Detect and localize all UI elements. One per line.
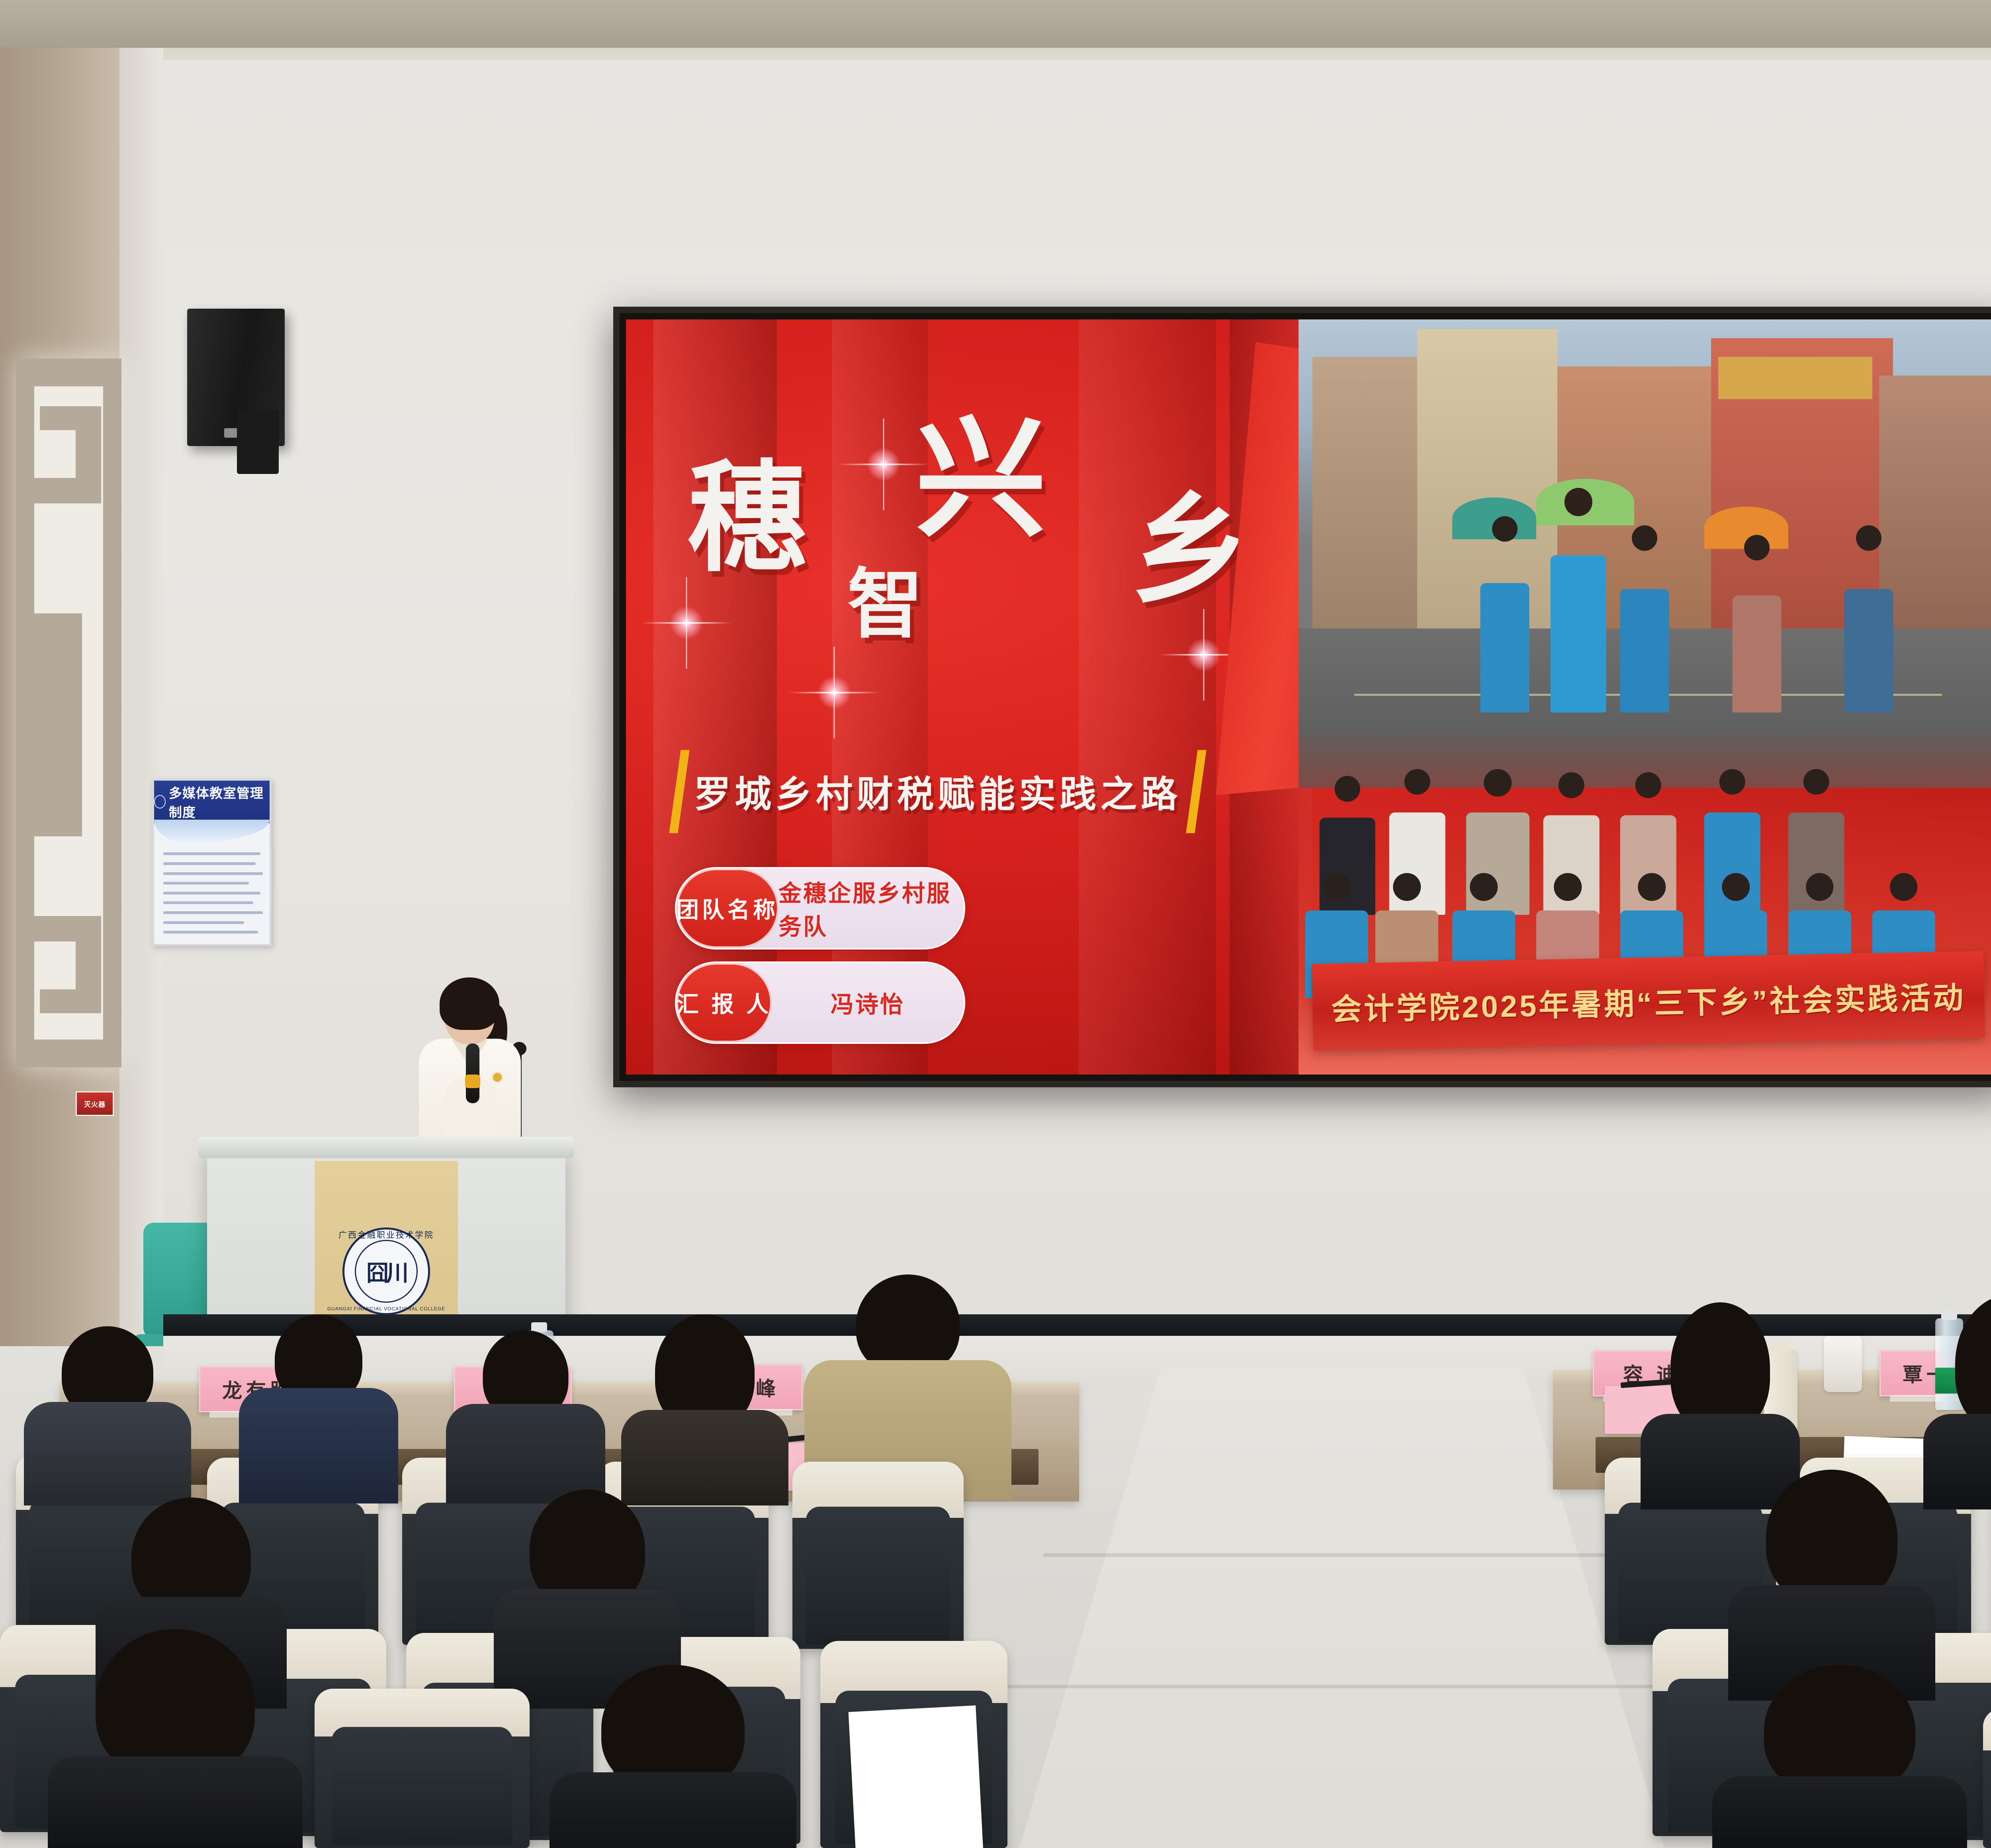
podium-top-surface: [198, 1137, 574, 1158]
subtitle-tick-left-icon: [669, 750, 689, 833]
emblem-chinese-name: 广西金融职业技术学院: [338, 1229, 434, 1241]
audience-member: [621, 1314, 788, 1501]
emblem-english-name: GUANGXI FINANCIAL VOCATIONAL COLLEGE: [327, 1306, 445, 1312]
aisle-step-2: [1003, 1685, 1680, 1688]
audience-member: [239, 1314, 398, 1501]
slide-field-team-value: 金穗企服乡村服务队: [778, 875, 964, 942]
auditorium-seat[interactable]: [315, 1689, 530, 1848]
fire-sign-label: 灭火器: [84, 1099, 106, 1109]
audience-member: [446, 1330, 605, 1501]
slide-field-speaker-label: 汇 报 人: [677, 963, 772, 1042]
sparkle-icon-3: [810, 669, 858, 716]
audience-member: [24, 1326, 191, 1501]
slide-field-speaker-value: 冯诗怡: [772, 986, 963, 1019]
wall-notice-board: 多媒体教室管理制度: [152, 779, 272, 946]
slide-field-team-label: 团队名称: [677, 869, 778, 948]
coffee-cup: [1824, 1336, 1862, 1392]
slide-field-team: 团队名称 金穗企服乡村服务队: [675, 867, 965, 949]
slide-title-char-2: 智: [847, 568, 923, 643]
notice-board-title: 多媒体教室管理制度: [169, 783, 270, 821]
microphone-grip: [465, 1075, 480, 1088]
lecture-hall-photo: 多媒体教室管理制度 安全出口 灭火器: [0, 0, 1991, 1848]
college-emblem: 广西金融职业技术学院 囧川 GUANGXI FINANCIAL VOCATION…: [342, 1227, 430, 1315]
aisle-step-1: [1043, 1553, 1641, 1557]
slide-title-char-4: 乡: [1130, 491, 1250, 611]
ceiling: [0, 0, 1991, 48]
subtitle-tick-right-icon: [1186, 750, 1206, 833]
fire-extinguisher-sign: 灭火器: [76, 1091, 114, 1116]
auditorium-seat[interactable]: [1983, 1709, 1991, 1848]
slide-title-char-1: 穗: [687, 460, 807, 579]
slide-surface: 穗 智 兴 乡 罗城乡村财税赋能实践之路 团队名称 金穗企服乡村服务队: [626, 319, 1991, 1075]
slide-field-speaker: 汇 报 人 冯诗怡: [675, 961, 965, 1044]
slide-title-block: 穗 智 兴 乡: [675, 403, 1291, 720]
emblem-inner-ring: 囧川: [355, 1240, 418, 1303]
auditorium-seat[interactable]: [792, 1462, 964, 1649]
audience-member: [1712, 1665, 1967, 1848]
decorative-lattice-light-left: [16, 358, 121, 1067]
slide-subtitle: 罗城乡村财税赋能实践之路: [694, 765, 1181, 818]
slide-photo-collage: 会计学院2025年暑期“三下乡”社会实践活动: [1299, 319, 1991, 1075]
slide-subtitle-block: 罗城乡村财税赋能实践之路: [675, 750, 1263, 833]
slide-photo-banner: 会计学院2025年暑期“三下乡”社会实践活动: [1312, 951, 1985, 1051]
college-seal-icon: [154, 795, 166, 808]
presenter-badge-pin: [493, 1073, 502, 1082]
photo-village-street: [1299, 319, 1991, 788]
presenter-hair: [440, 977, 499, 1030]
slide-title-char-3: 兴: [915, 415, 1046, 546]
audience-member: [48, 1629, 303, 1848]
audience-member: [550, 1665, 796, 1848]
projection-screen[interactable]: 穗 智 兴 乡 罗城乡村财税赋能实践之路 团队名称 金穗企服乡村服务队: [613, 307, 1991, 1087]
sparkle-icon-4: [1180, 631, 1228, 679]
printed-script: [849, 1705, 984, 1848]
notice-board-header: 多媒体教室管理制度: [154, 781, 270, 823]
emblem-glyph: 囧川: [366, 1255, 406, 1288]
notice-board-wave-decor: [154, 820, 270, 842]
handheld-microphone: [466, 1043, 479, 1103]
slide-photo-banner-text: 会计学院2025年暑期“三下乡”社会实践活动: [1331, 973, 1966, 1029]
wall-left-inner-band: [119, 0, 163, 1354]
sparkle-icon-2: [663, 599, 710, 647]
speaker-mount-left: [237, 410, 279, 474]
audience-member: [1728, 1470, 1935, 1693]
sparkle-icon-1: [860, 440, 907, 488]
slide-text-column: 穗 智 兴 乡 罗城乡村财税赋能实践之路 团队名称 金穗企服乡村服务队: [626, 319, 1326, 1075]
